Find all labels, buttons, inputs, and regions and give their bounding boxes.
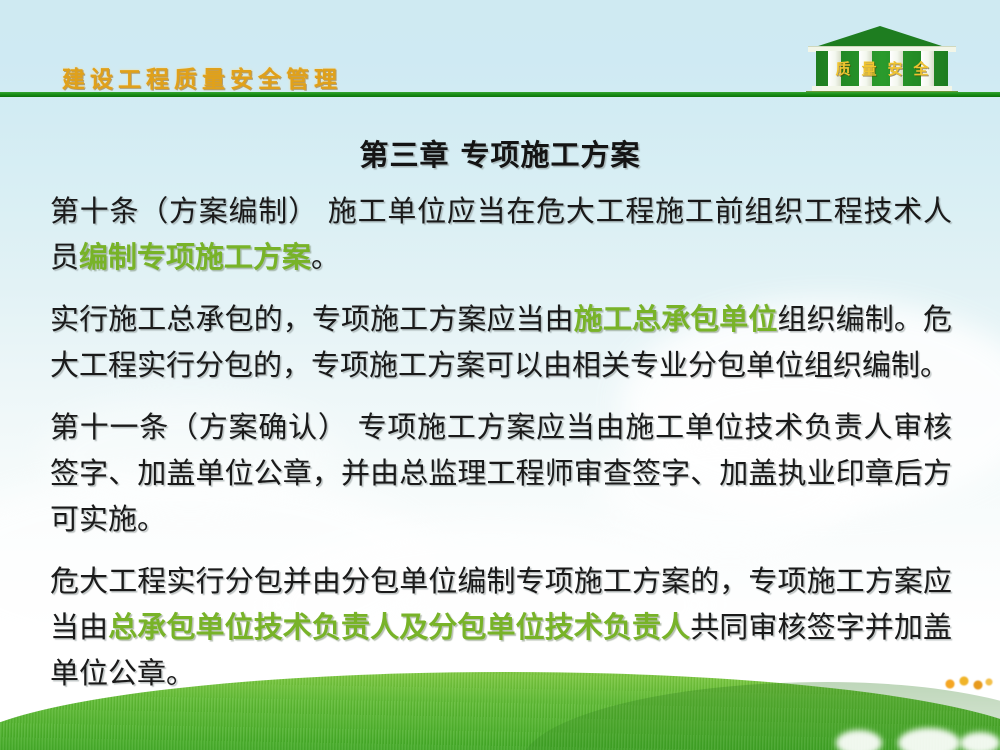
slide-header: 建设工程质量安全管理 质量安全 <box>0 0 1000 100</box>
body-text: 第十一条（方案确认） 专项施工方案应当由施工单位技术负责人审核签字、加盖单位公章… <box>50 410 952 536</box>
blossom-decoration <box>836 730 882 750</box>
paragraph-article-10: 第十条（方案编制） 施工单位应当在危大工程施工前组织工程技术人员编制专项施工方案… <box>50 188 952 280</box>
highlighted-text: 施工总承包单位 <box>574 302 778 336</box>
blossom-decoration <box>960 732 1000 750</box>
body-text: 实行施工总承包的，专项施工方案应当由 <box>50 302 574 336</box>
quality-safety-temple-logo: 质量安全 <box>806 26 958 96</box>
temple-roof-icon <box>812 26 948 48</box>
header-divider <box>0 92 1000 97</box>
paragraph-subcontracting: 危大工程实行分包并由分包单位编制专项施工方案的，专项施工方案应当由总承包单位技术… <box>50 558 952 696</box>
body-text: 。 <box>311 240 340 274</box>
blossom-decoration <box>898 728 960 750</box>
logo-text: 质量安全 <box>806 58 958 79</box>
paragraph-article-11: 第十一条（方案确认） 专项施工方案应当由施工单位技术负责人审核签字、加盖单位公章… <box>50 404 952 542</box>
highlighted-text: 编制专项施工方案 <box>79 240 311 274</box>
presentation-slide: 建设工程质量安全管理 质量安全 第三章 专项施工方案 第十条（方案编制） 施工单… <box>0 0 1000 750</box>
paragraph-list: 第十条（方案编制） 施工单位应当在危大工程施工前组织工程技术人员编制专项施工方案… <box>0 188 1000 696</box>
highlighted-text: 总承包单位技术负责人及分包单位技术负责人 <box>108 610 690 644</box>
paragraph-general-contracting: 实行施工总承包的，专项施工方案应当由施工总承包单位组织编制。危大工程实行分包的，… <box>50 296 952 388</box>
slide-title: 第三章 专项施工方案 <box>0 132 1000 174</box>
slide-content: 第三章 专项施工方案 第十条（方案编制） 施工单位应当在危大工程施工前组织工程技… <box>0 132 1000 696</box>
header-title: 建设工程质量安全管理 <box>62 60 342 94</box>
